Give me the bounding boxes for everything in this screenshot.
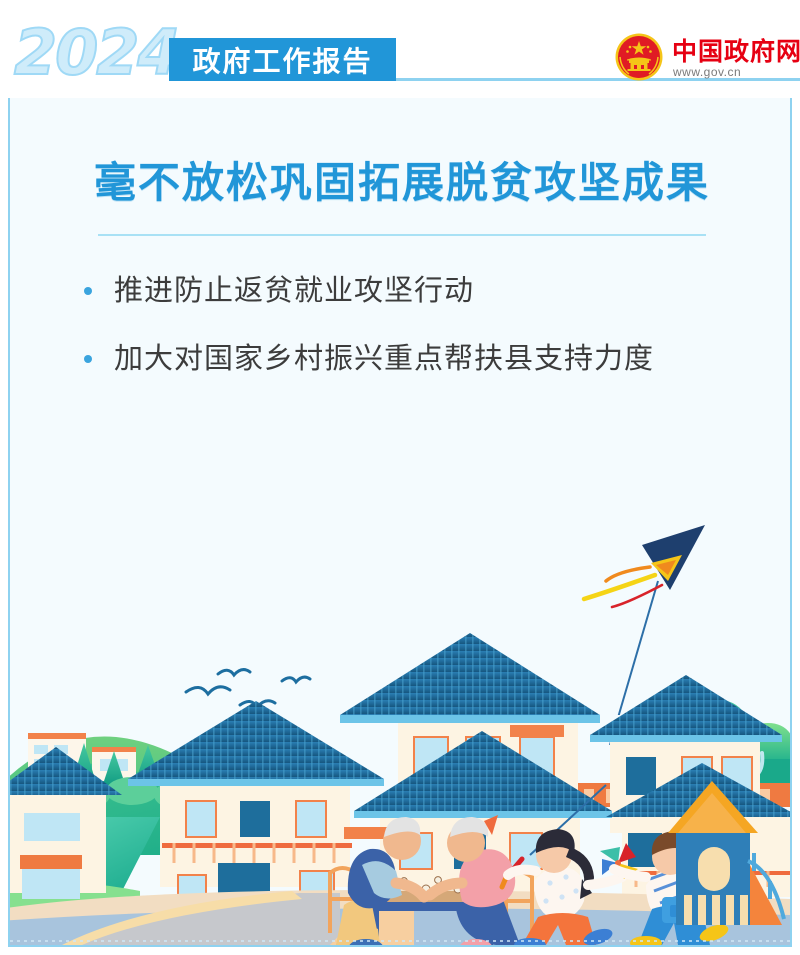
- title-divider: [98, 234, 706, 236]
- gov-site-name: 中国政府网: [672, 32, 800, 68]
- content-frame: 毫不放松巩固拓展脱贫攻坚成果 推进防止返贫就业攻坚行动 加大对国家乡村振兴重点帮…: [8, 90, 792, 947]
- page-title: 毫不放松巩固拓展脱贫攻坚成果: [10, 149, 792, 210]
- list-item: 加大对国家乡村振兴重点帮扶县支持力度: [84, 338, 734, 378]
- year-outline-text: 2024: [14, 22, 179, 84]
- gov-url-text: www.gov.cn: [673, 65, 741, 79]
- bullet-dot-icon: [84, 355, 92, 363]
- china-national-emblem-icon: [614, 32, 664, 82]
- gov-logo[interactable]: 中国政府网 www.gov.cn: [614, 30, 786, 88]
- poster-root: 2024 政府工作报告: [0, 0, 800, 955]
- report-title-banner: 政府工作报告: [169, 38, 396, 81]
- bullet-text: 推进防止返贫就业攻坚行动: [114, 270, 474, 310]
- list-item: 推进防止返贫就业攻坚行动: [84, 270, 734, 310]
- report-title-label: 政府工作报告: [192, 40, 372, 80]
- gov-site-url: www.gov.cn: [673, 65, 741, 79]
- page-header: 2024 政府工作报告: [0, 0, 800, 98]
- bullet-text: 加大对国家乡村振兴重点帮扶县支持力度: [114, 338, 654, 378]
- bullet-dot-icon: [84, 287, 92, 295]
- village-illustration: [10, 385, 790, 945]
